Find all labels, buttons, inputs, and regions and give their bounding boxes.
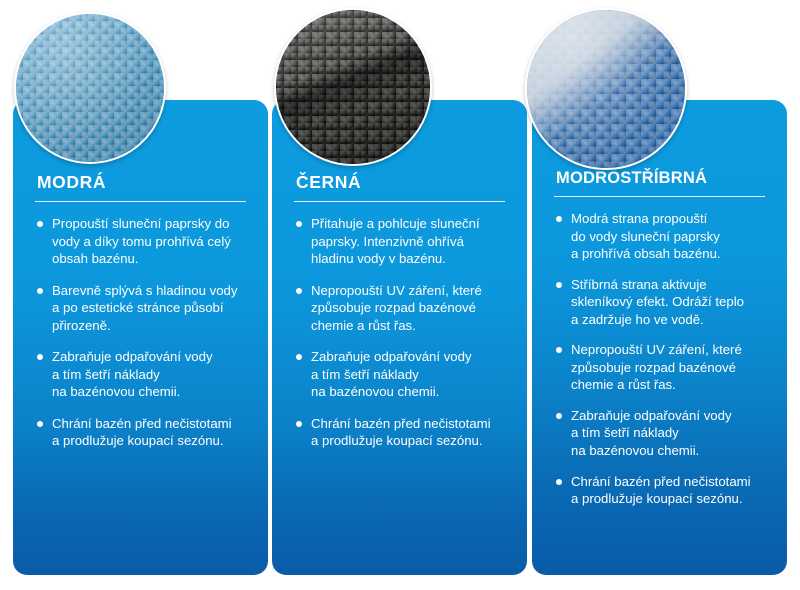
list-item: Zabraňuje odpařování vody a tím šetří ná… bbox=[35, 348, 250, 401]
list-item: Modrá strana propouští do vody sluneční … bbox=[554, 210, 769, 263]
column-title-modra: MODRÁ bbox=[37, 174, 250, 192]
column-title-modrostribrna: MODROSTŘÍBRNÁ bbox=[556, 170, 769, 187]
list-item: Chrání bazén před nečistotami a prodlužu… bbox=[294, 415, 509, 450]
column-card-cerna: ČERNÁ Přitahuje a pohlcuje sluneční papr… bbox=[272, 100, 527, 575]
list-item: Chrání bazén před nečistotami a prodlužu… bbox=[35, 415, 250, 450]
feature-list-modrostribrna: Modrá strana propouští do vody sluneční … bbox=[550, 210, 769, 508]
list-item: Nepropouští UV záření, které způsobuje r… bbox=[554, 341, 769, 394]
column-content-modra: MODRÁ Propouští sluneční paprsky do vody… bbox=[13, 100, 268, 575]
column-card-modrostribrna: MODROSTŘÍBRNÁ Modrá strana propouští do … bbox=[532, 100, 787, 575]
infographic-board: MODRÁ Propouští sluneční paprsky do vody… bbox=[0, 0, 800, 590]
title-divider bbox=[554, 196, 765, 198]
list-item: Přitahuje a pohlcuje sluneční paprsky. I… bbox=[294, 215, 509, 268]
blue-bubble-texture bbox=[14, 12, 166, 164]
list-item: Stříbrná strana aktivuje skleníkový efek… bbox=[554, 276, 769, 329]
black-bubble-texture bbox=[274, 8, 432, 166]
feature-list-cerna: Přitahuje a pohlcuje sluneční paprsky. I… bbox=[290, 215, 509, 450]
column-title-cerna: ČERNÁ bbox=[296, 174, 509, 192]
silver-blue-bubble-texture bbox=[525, 8, 687, 170]
silver-blue-bubble-wrap-photo bbox=[525, 8, 687, 170]
black-bubble-wrap-photo bbox=[274, 8, 432, 166]
blue-bubble-wrap-photo bbox=[14, 12, 166, 164]
column-card-modra: MODRÁ Propouští sluneční paprsky do vody… bbox=[13, 100, 268, 575]
list-item: Zabraňuje odpařování vody a tím šetří ná… bbox=[554, 407, 769, 460]
list-item: Nepropouští UV záření, které způsobuje r… bbox=[294, 282, 509, 335]
list-item: Propouští sluneční paprsky do vody a dík… bbox=[35, 215, 250, 268]
feature-list-modra: Propouští sluneční paprsky do vody a dík… bbox=[31, 215, 250, 450]
column-content-cerna: ČERNÁ Přitahuje a pohlcuje sluneční papr… bbox=[272, 100, 527, 575]
title-divider bbox=[35, 201, 246, 203]
list-item: Chrání bazén před nečistotami a prodlužu… bbox=[554, 473, 769, 508]
title-divider bbox=[294, 201, 505, 203]
list-item: Zabraňuje odpařování vody a tím šetří ná… bbox=[294, 348, 509, 401]
list-item: Barevně splývá s hladinou vody a po este… bbox=[35, 282, 250, 335]
column-content-modrostribrna: MODROSTŘÍBRNÁ Modrá strana propouští do … bbox=[532, 100, 787, 575]
